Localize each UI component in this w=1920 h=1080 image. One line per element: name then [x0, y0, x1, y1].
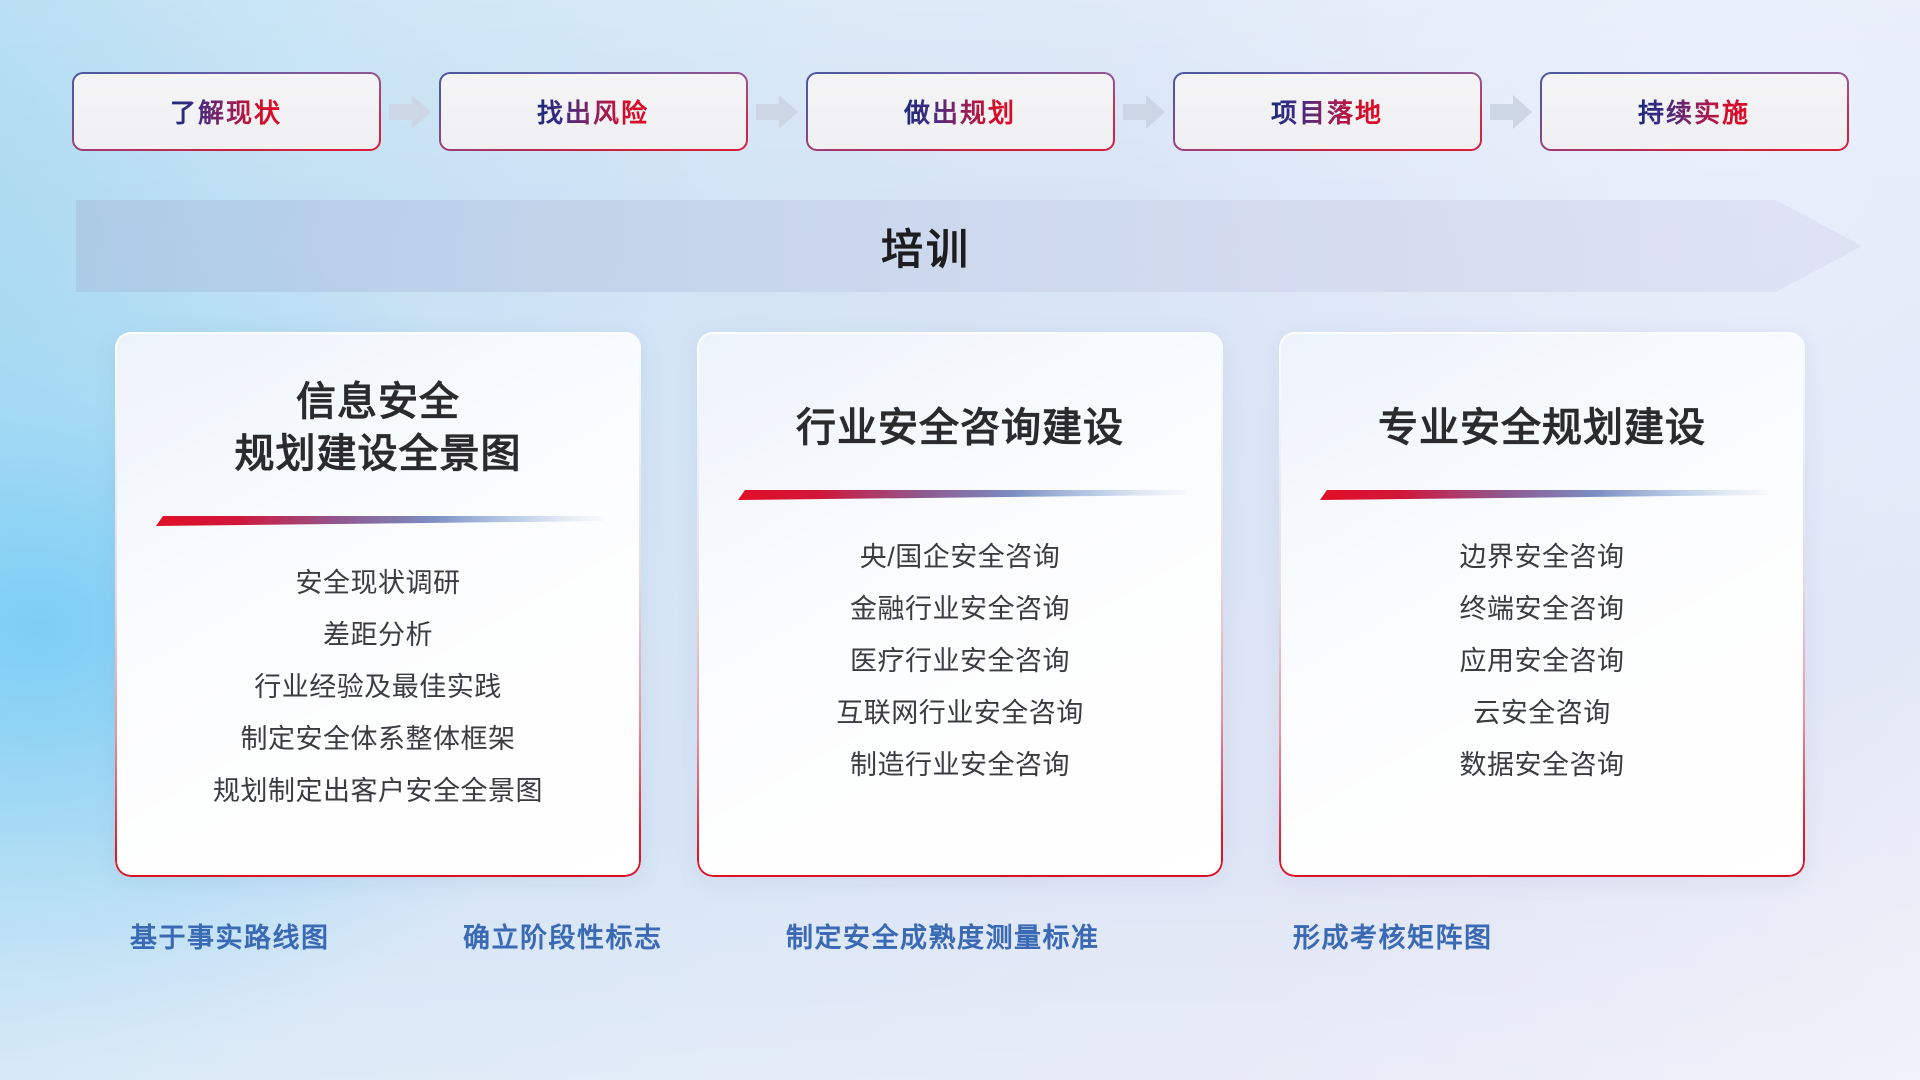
card-industry-security-consulting[interactable]: 行业安全咨询建设 央/国企安全咨询 金融行业安全咨询 [697, 332, 1223, 877]
process-step-5[interactable]: 持续实施 [1542, 74, 1847, 149]
card-3-divider [1316, 488, 1768, 502]
list-item: 金融行业安全咨询 [850, 584, 1070, 635]
list-item: 制定安全体系整体框架 [241, 714, 516, 765]
list-item: 医疗行业安全咨询 [850, 636, 1070, 687]
list-item: 行业经验及最佳实践 [254, 662, 502, 713]
footer-caption-row: 基于事实路线图 确立阶段性标志 制定安全成熟度测量标准 形成考核矩阵图 [0, 916, 1920, 962]
card-1-item-list: 安全现状调研 差距分析 行业经验及最佳实践 制定安全体系整体框架 规划制定出客户… [115, 558, 641, 817]
card-row: 信息安全 规划建设全景图 安全现状调研 差 [0, 332, 1920, 877]
training-banner: 培训 [76, 200, 1862, 292]
card-1-title-line2: 规划建设全景图 [235, 428, 522, 480]
process-step-4[interactable]: 项目落地 [1175, 74, 1480, 149]
caption-2: 确立阶段性标志 [463, 916, 663, 955]
banner-title: 培训 [76, 200, 1776, 292]
card-3-title: 专业安全规划建设 [1378, 402, 1706, 454]
caption-3: 制定安全成熟度测量标准 [786, 916, 1100, 955]
process-arrow-icon-2 [746, 92, 808, 132]
process-step-3-label: 做出规划 [904, 93, 1016, 130]
card-3-title-line1: 专业安全规划建设 [1378, 406, 1706, 450]
card-1-title-line1: 信息安全 [296, 380, 460, 424]
process-arrow-icon-4 [1480, 92, 1542, 132]
list-item: 差距分析 [323, 610, 433, 661]
card-2-divider [734, 488, 1186, 502]
card-2-title: 行业安全咨询建设 [796, 402, 1124, 454]
process-step-5-label: 持续实施 [1638, 93, 1750, 130]
process-arrow-icon-3 [1113, 92, 1175, 132]
card-1-title: 信息安全 规划建设全景图 [235, 376, 522, 480]
process-arrow-icon-1 [379, 92, 441, 132]
card-1-divider [152, 514, 604, 528]
list-item: 互联网行业安全咨询 [836, 688, 1084, 739]
list-item: 数据安全咨询 [1460, 740, 1625, 791]
card-2-title-line1: 行业安全咨询建设 [796, 406, 1124, 450]
process-step-2-label: 找出风险 [537, 93, 649, 130]
list-item: 边界安全咨询 [1460, 532, 1625, 583]
process-step-1[interactable]: 了解现状 [74, 74, 379, 149]
process-step-2[interactable]: 找出风险 [441, 74, 746, 149]
list-item: 应用安全咨询 [1460, 636, 1625, 687]
list-item: 云安全咨询 [1473, 688, 1611, 739]
card-2-item-list: 央/国企安全咨询 金融行业安全咨询 医疗行业安全咨询 互联网行业安全咨询 制造行… [697, 532, 1223, 791]
card-information-security-panorama[interactable]: 信息安全 规划建设全景图 安全现状调研 差 [115, 332, 641, 877]
process-step-3[interactable]: 做出规划 [808, 74, 1113, 149]
caption-1: 基于事实路线图 [130, 916, 330, 955]
process-step-row: 了解现状 找出风险 做出规划 项目落地 持续实施 [0, 74, 1920, 149]
process-step-1-label: 了解现状 [170, 93, 282, 130]
list-item: 终端安全咨询 [1460, 584, 1625, 635]
list-item: 制造行业安全咨询 [850, 740, 1070, 791]
list-item: 央/国企安全咨询 [860, 532, 1061, 583]
process-step-4-label: 项目落地 [1271, 93, 1383, 130]
caption-4: 形成考核矩阵图 [1293, 916, 1493, 955]
card-professional-security-planning[interactable]: 专业安全规划建设 边界安全咨询 终端安全咨询 [1279, 332, 1805, 877]
card-3-item-list: 边界安全咨询 终端安全咨询 应用安全咨询 云安全咨询 数据安全咨询 [1279, 532, 1805, 791]
list-item: 安全现状调研 [296, 558, 461, 609]
list-item: 规划制定出客户安全全景图 [213, 766, 543, 817]
